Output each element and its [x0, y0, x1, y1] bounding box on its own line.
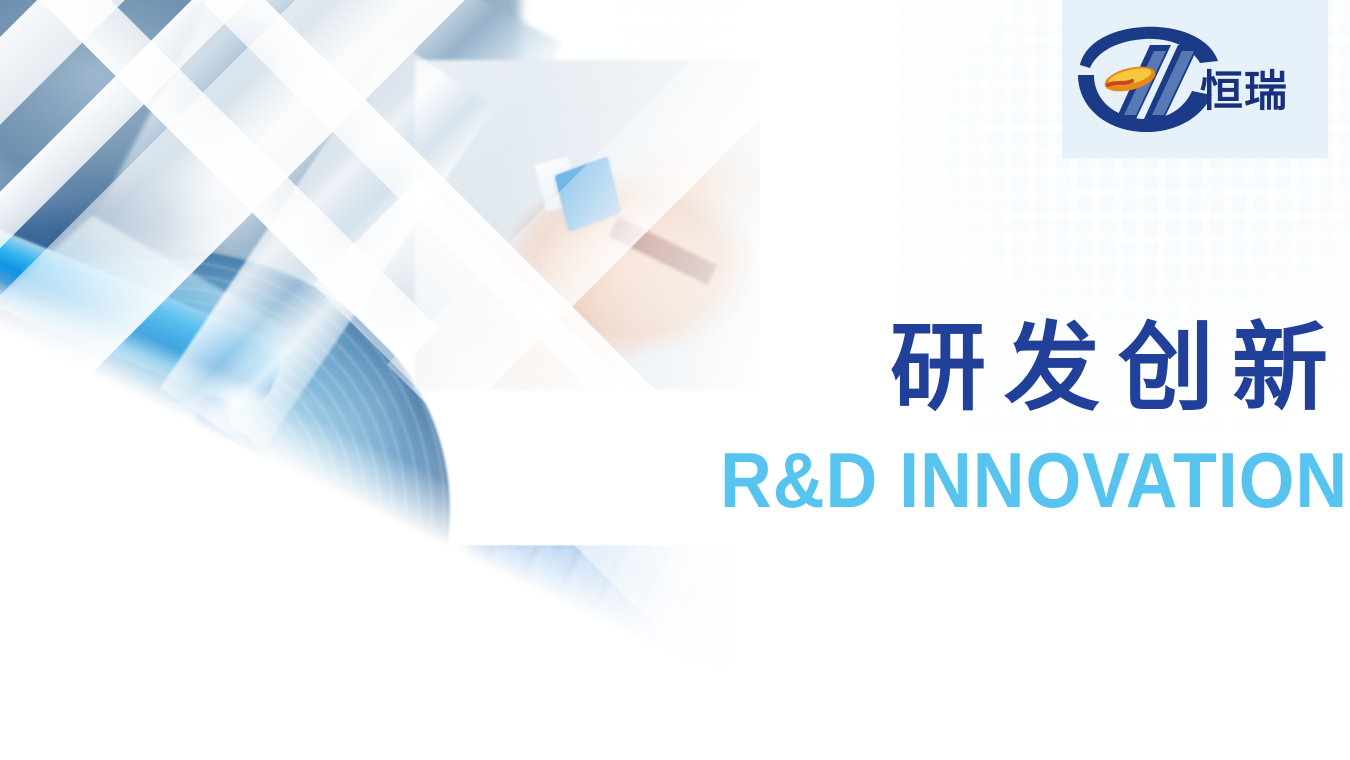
lower-left-white-haze [139, 543, 491, 760]
headline-block: 研发创新 R&D INNOVATION [648, 318, 1350, 519]
photo-collage [0, 0, 760, 760]
page-subtitle-en: R&D INNOVATION [704, 441, 1350, 519]
rd-innovation-banner: 恒瑞 研发创新 R&D INNOVATION [0, 0, 1350, 760]
page-title-cn: 研发创新 [648, 318, 1350, 419]
logo-company-name: 恒瑞 [1200, 71, 1288, 114]
hengrui-logo-panel: 恒瑞 [1062, 0, 1328, 158]
